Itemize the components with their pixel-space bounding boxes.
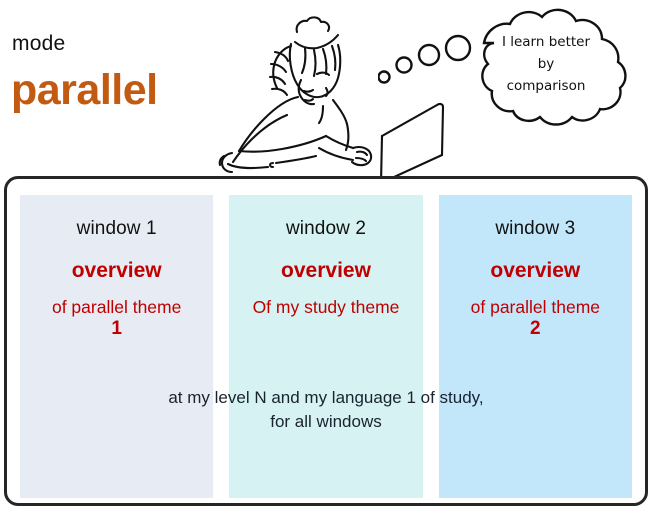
window-1-overview-heading: overview [20,259,213,282]
thought-bubble: I learn better by comparison [378,4,654,134]
window-3-title: window 3 [439,219,632,240]
window-2-description: Of my study theme [229,296,422,318]
window-2-desc-text: Of my study theme [253,297,400,317]
window-1-description: of parallel theme 1 [20,296,213,341]
window-column-1[interactable]: window 1 overview of parallel theme 1 [20,195,213,498]
window-3-description: of parallel theme 2 [439,296,632,341]
header-area: mode parallel [0,0,656,178]
thought-bubble-icon [378,4,654,134]
window-2-title: window 2 [229,219,422,240]
window-2-overview-heading: overview [229,259,422,282]
mode-name-heading: parallel [11,66,158,115]
window-1-title: window 1 [20,219,213,240]
window-column-3[interactable]: window 3 overview of parallel theme 2 [439,195,632,498]
window-3-desc-text: of parallel theme [471,297,600,317]
window-1-desc-text: of parallel theme [52,297,181,317]
mode-label: mode [12,33,65,54]
windows-row: window 1 overview of parallel theme 1 wi… [20,195,632,498]
window-3-overview-heading: overview [439,259,632,282]
windows-panel: window 1 overview of parallel theme 1 wi… [4,176,648,506]
window-3-theme-number: 2 [443,318,628,341]
window-column-2[interactable]: window 2 overview Of my study theme [229,195,422,498]
window-1-theme-number: 1 [24,318,209,341]
